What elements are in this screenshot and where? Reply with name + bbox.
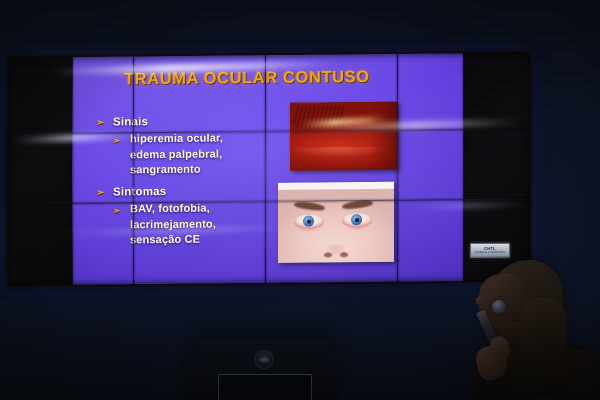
bullet-sub-label: sangramento bbox=[130, 164, 201, 177]
arrow-bullet-icon: ➢ bbox=[96, 188, 105, 199]
nostril-right bbox=[340, 252, 348, 257]
bullet-sub-label: hiperemia ocular, bbox=[130, 132, 223, 145]
video-wall-seam-vertical bbox=[265, 55, 266, 283]
bullet-sub-label: BAV, fotofobia, bbox=[130, 203, 210, 216]
video-wall-seam-vertical bbox=[72, 57, 73, 285]
video-wall[interactable]: TRAUMA OCULAR CONTUSO ➢ Sinais ➢ hiperem… bbox=[8, 52, 530, 285]
video-wall-seam-vertical bbox=[463, 53, 464, 281]
video-wall-seam-vertical bbox=[397, 54, 398, 282]
arrow-subbullet-icon: ➢ bbox=[113, 203, 121, 219]
bullet-heading: ➢ Sinais bbox=[96, 115, 286, 129]
bullet-sub-line: sensação CE bbox=[96, 232, 286, 249]
slide-title: TRAUMA OCULAR CONTUSO bbox=[124, 67, 454, 89]
microphone-head-icon bbox=[492, 300, 506, 314]
lectern-monitor bbox=[218, 374, 312, 400]
lectern-emblem-icon bbox=[255, 350, 274, 369]
pupil-left bbox=[307, 219, 311, 223]
presentation-slide[interactable]: TRAUMA OCULAR CONTUSO ➢ Sinais ➢ hiperem… bbox=[72, 53, 463, 285]
arrow-bullet-icon: ➢ bbox=[96, 118, 105, 129]
bullet-heading-label: Sintomas bbox=[113, 186, 166, 199]
bullet-sub-label: lacrimejamento, bbox=[130, 218, 216, 231]
bullet-group-sintomas: ➢ Sintomas ➢ BAV, fotofobia, lacrimejame… bbox=[96, 185, 286, 249]
nostril-left bbox=[324, 252, 332, 257]
face-red-eyes-image bbox=[278, 182, 394, 263]
lectern bbox=[196, 338, 332, 400]
bullet-heading: ➢ Sintomas bbox=[96, 185, 286, 199]
bullet-sub-label: edema palpebral, bbox=[130, 148, 222, 161]
bullet-sub-line: edema palpebral, bbox=[96, 146, 286, 163]
presenter bbox=[455, 258, 600, 400]
pupil-right bbox=[355, 218, 359, 222]
lectern-side-left bbox=[180, 356, 202, 400]
bullet-sub-line: lacrimejamento, bbox=[96, 216, 286, 233]
bullet-heading-label: Sinais bbox=[113, 116, 148, 128]
institution-watermark-plate: CHTL Ambulat d Alfabetiza bbox=[470, 243, 510, 258]
eye-shadow-edge bbox=[370, 102, 398, 170]
eye-hyperemia-closeup-image bbox=[290, 102, 398, 171]
video-wall-panel-left-black bbox=[8, 57, 72, 286]
lecture-hall-scene: TRAUMA OCULAR CONTUSO ➢ Sinais ➢ hiperem… bbox=[0, 0, 600, 400]
video-wall-surface: TRAUMA OCULAR CONTUSO ➢ Sinais ➢ hiperem… bbox=[8, 52, 530, 285]
presenter-nose bbox=[476, 296, 487, 306]
watermark-line-2: Ambulat d Alfabetiza bbox=[475, 251, 505, 255]
arrow-subbullet-icon: ➢ bbox=[113, 133, 121, 149]
bullet-group-sinais: ➢ Sinais ➢ hiperemia ocular, edema palpe… bbox=[96, 115, 286, 179]
video-wall-seam-vertical bbox=[133, 56, 134, 284]
bullet-sub-label: sensação CE bbox=[130, 234, 200, 247]
bullet-sub-line: sangramento bbox=[96, 162, 286, 179]
